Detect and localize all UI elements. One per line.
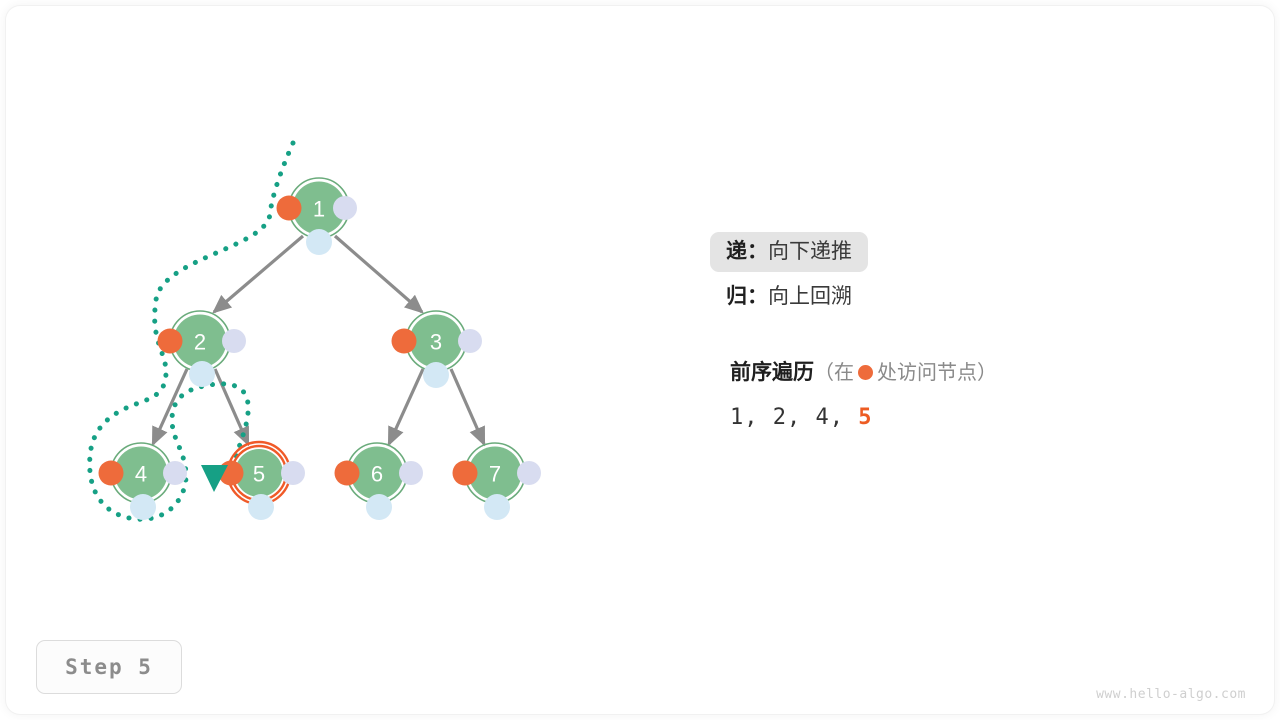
node-3-bottom-port-dot — [423, 362, 449, 388]
node-2-visit-dot-icon — [158, 329, 183, 354]
node-7-bottom-port-dot — [484, 494, 510, 520]
node-3-right-port-dot — [458, 329, 482, 353]
legend-recurse-key: 递： — [726, 240, 768, 263]
node-1-visit-dot-icon — [277, 196, 302, 221]
node-7-visit-dot-icon — [453, 461, 478, 486]
legend-recurse-value: 向下递推 — [768, 240, 852, 263]
node-6-bottom-port-dot — [366, 494, 392, 520]
diagram-page: 1 2 3 4 — [0, 0, 1280, 720]
tree-node-7[interactable]: 7 — [453, 443, 542, 520]
tree-node-5[interactable]: 5 — [219, 442, 306, 520]
node-2-right-port-dot — [222, 329, 246, 353]
node-6-right-port-dot — [399, 461, 423, 485]
node-6-label: 6 — [371, 462, 383, 487]
edge-2-4 — [153, 369, 187, 444]
tree-node-4[interactable]: 4 — [99, 443, 188, 520]
node-7-label: 7 — [489, 462, 501, 487]
traversal-title: 前序遍历 — [730, 361, 814, 384]
node-6-visit-dot-icon — [335, 461, 360, 486]
traversal-panel: 前序遍历（在处访问节点） 1, 2, 4, 5 — [730, 362, 1250, 430]
node-7-right-port-dot — [517, 461, 541, 485]
node-4-right-port-dot — [163, 461, 187, 485]
legend-backtrack-key: 归： — [726, 285, 768, 308]
node-1-bottom-port-dot — [306, 229, 332, 255]
step-label: Step 5 — [65, 655, 153, 679]
edge-1-3 — [335, 236, 422, 312]
node-4-bottom-port-dot — [130, 494, 156, 520]
edge-3-7 — [451, 369, 484, 444]
traversal-paren-rest: 处访问节点） — [877, 362, 997, 384]
node-5-label: 5 — [253, 462, 265, 487]
traversal-sequence: 1, 2, 4, 5 — [730, 405, 1250, 430]
traversal-paren-open: （在 — [814, 362, 854, 384]
binary-tree-diagram: 1 2 3 4 — [0, 0, 1280, 720]
legend-panel: 递：向下递推 归：向上回溯 — [726, 232, 1246, 307]
legend-backtrack-value: 向上回溯 — [768, 285, 852, 308]
node-3-label: 3 — [430, 330, 442, 355]
legend-row-recurse: 递：向下递推 — [726, 232, 1246, 272]
node-1-right-port-dot — [333, 196, 357, 220]
node-4-label: 4 — [135, 462, 147, 487]
tree-node-2[interactable]: 2 — [158, 311, 247, 387]
watermark: www.hello-algo.com — [1096, 687, 1246, 702]
node-4-visit-dot-icon — [99, 461, 124, 486]
node-2-label: 2 — [194, 330, 206, 355]
node-3-visit-dot-icon — [392, 329, 417, 354]
edge-3-6 — [389, 369, 423, 444]
legend-row-backtrack: 归：向上回溯 — [726, 286, 1246, 307]
step-badge: Step 5 — [36, 640, 182, 694]
node-2-bottom-port-dot — [189, 361, 215, 387]
node-1-label: 1 — [313, 197, 325, 222]
orange-dot-icon — [858, 365, 873, 380]
traversal-sequence-prefix: 1, 2, 4, — [730, 405, 858, 430]
node-5-bottom-port-dot — [248, 494, 274, 520]
traversal-sequence-current: 5 — [858, 405, 872, 430]
tree-node-6[interactable]: 6 — [335, 443, 424, 520]
node-5-right-port-dot — [281, 461, 305, 485]
tree-node-3[interactable]: 3 — [392, 311, 483, 388]
legend-row-recurse-highlight: 递：向下递推 — [710, 232, 868, 272]
traversal-title-line: 前序遍历（在处访问节点） — [730, 362, 1250, 383]
